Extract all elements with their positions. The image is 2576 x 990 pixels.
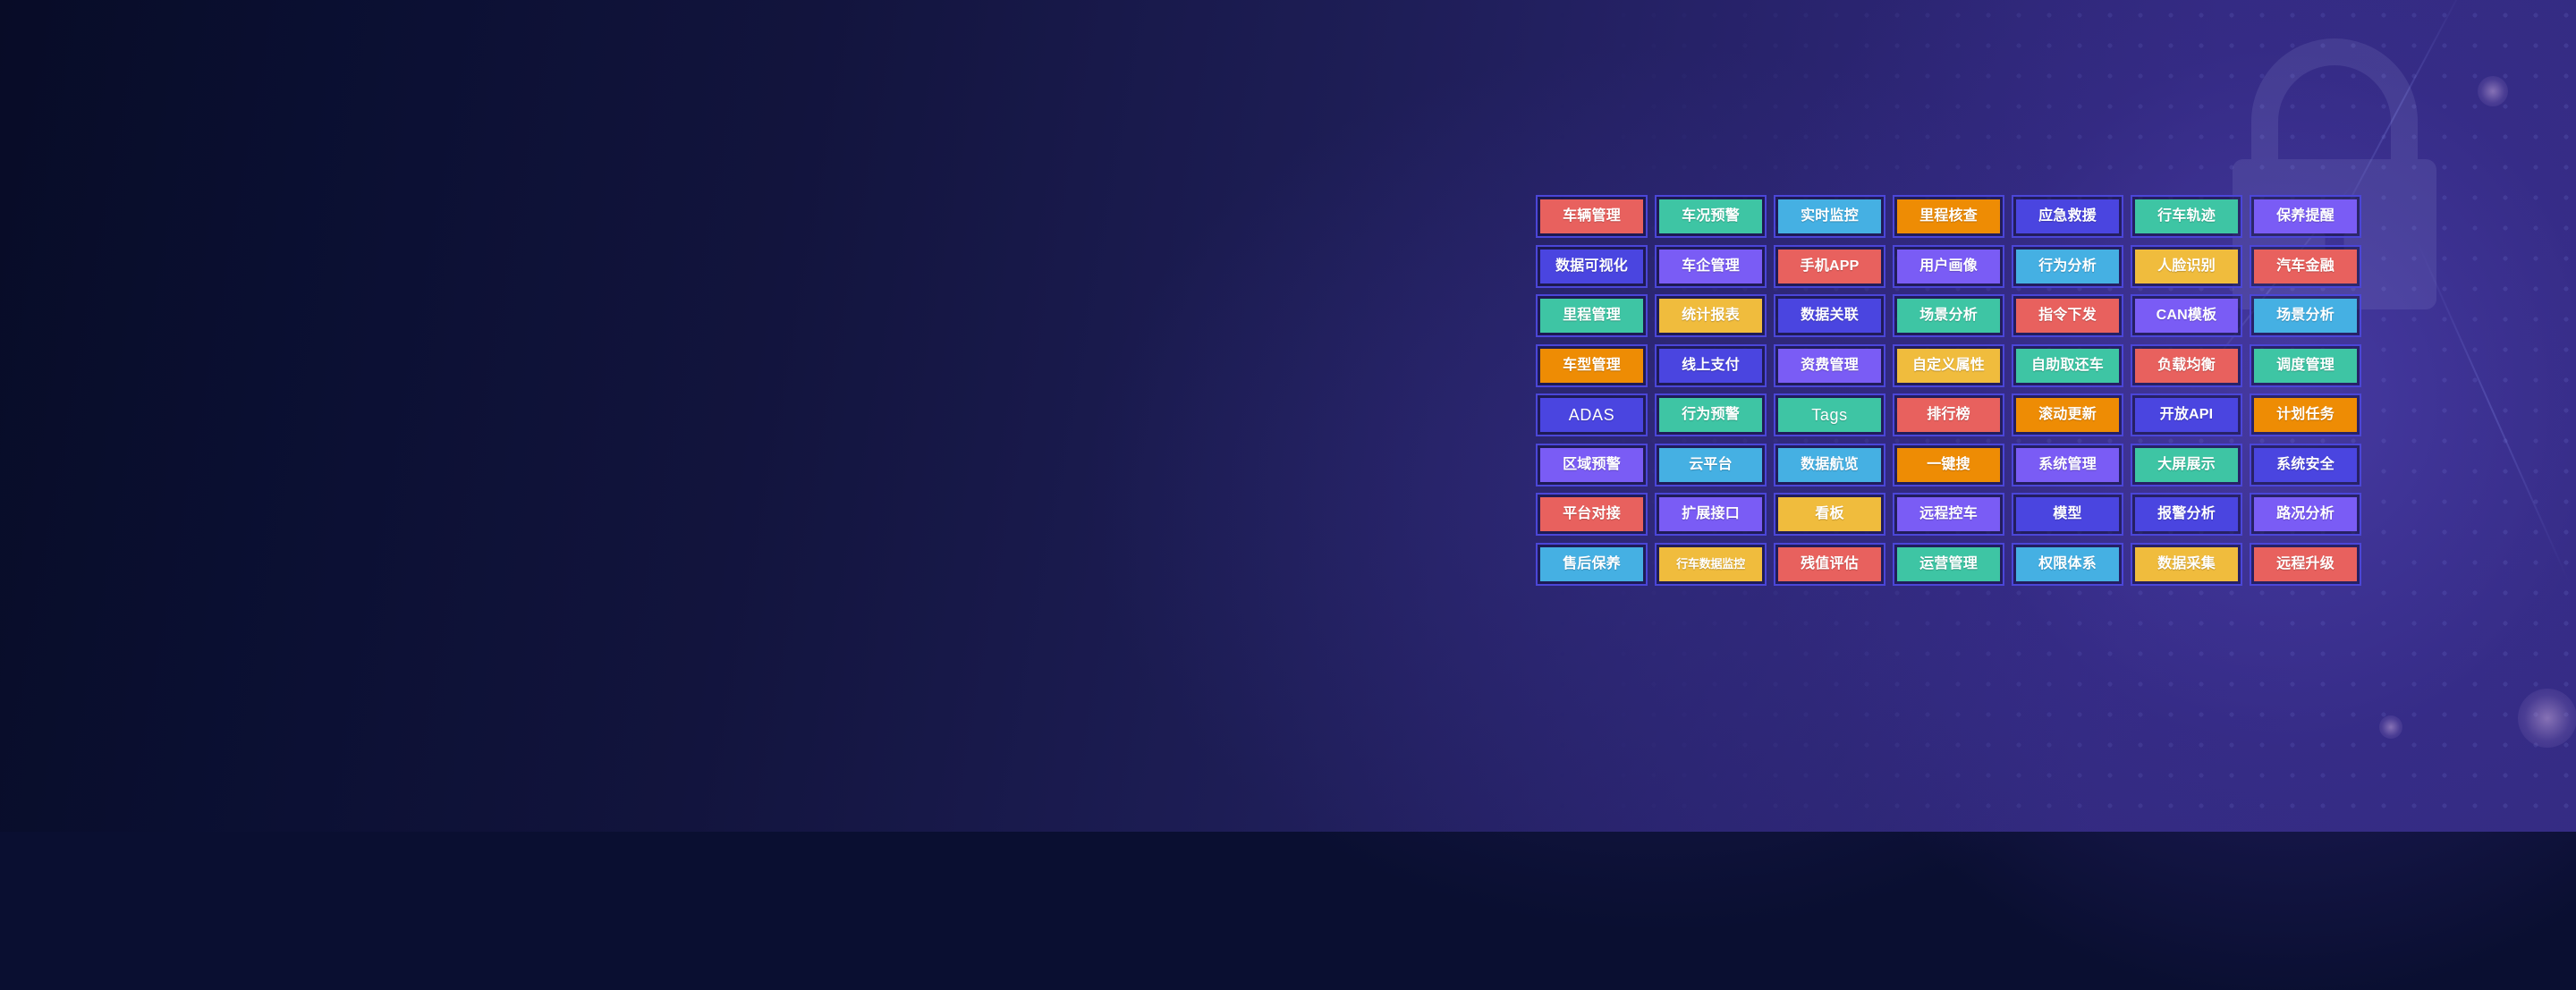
self-service-pickup-tile[interactable]: 自助取还车	[2012, 344, 2123, 387]
mileage-audit-tile[interactable]: 里程核查	[1893, 195, 2004, 238]
tile-fill: 数据采集	[2135, 547, 2238, 581]
tile-fill: 滚动更新	[2016, 398, 2119, 432]
tile-fill: 车型管理	[1540, 349, 1643, 383]
tile-row: 数据可视化车企管理手机APP用户画像行为分析人脸识别汽车金融	[1536, 245, 2368, 288]
geo-fence-alert-tile[interactable]: 区域预警	[1536, 444, 1648, 487]
data-association-tile[interactable]: 数据关联	[1774, 294, 1885, 337]
tile-fill: 扩展接口	[1659, 497, 1762, 531]
tile-label: ADAS	[1569, 407, 1614, 423]
statistics-report-tile[interactable]: 统计报表	[1655, 294, 1767, 337]
data-collection-tile[interactable]: 数据采集	[2131, 543, 2242, 586]
tile-fill: 里程管理	[1540, 299, 1643, 333]
driving-track-tile[interactable]: 行车轨迹	[2131, 195, 2242, 238]
remote-control-tile[interactable]: 远程控车	[1893, 493, 2004, 536]
tile-label: 指令下发	[2038, 309, 2097, 323]
tile-label: CAN模板	[2157, 309, 2217, 323]
tile-label: 数据可视化	[1555, 259, 1628, 274]
tile-fill: 调度管理	[2254, 349, 2357, 383]
tile-label: 计划任务	[2276, 408, 2334, 422]
tile-label: 模型	[2053, 507, 2081, 521]
tile-fill: 大屏展示	[2135, 448, 2238, 482]
tariff-management-tile[interactable]: 资费管理	[1774, 344, 1885, 387]
tile-row: 平台对接扩展接口看板远程控车模型报警分析路况分析	[1536, 493, 2368, 536]
scenario-analysis-tile[interactable]: 场景分析	[1893, 294, 2004, 337]
tile-fill: 平台对接	[1540, 497, 1643, 531]
tile-label: 扩展接口	[1682, 507, 1740, 521]
tile-label: 行车数据监控	[1676, 558, 1745, 570]
tile-fill: 汽车金融	[2254, 250, 2357, 283]
dashboard-tile[interactable]: 看板	[1774, 493, 1885, 536]
extension-interface-tile[interactable]: 扩展接口	[1655, 493, 1767, 536]
tile-label: 里程核查	[1919, 209, 1978, 224]
tile-fill: 线上支付	[1659, 349, 1762, 383]
tile-label: 远程控车	[1919, 507, 1978, 521]
tile-label: 云平台	[1689, 458, 1733, 472]
driving-data-monitor-tile[interactable]: 行车数据监控	[1655, 543, 1767, 586]
tile-fill: 实时监控	[1778, 199, 1881, 233]
tile-label: 应急救援	[2038, 209, 2097, 224]
model-tile[interactable]: 模型	[2012, 493, 2123, 536]
tile-label: 车企管理	[1682, 259, 1740, 274]
tile-fill: ADAS	[1540, 398, 1643, 432]
maintenance-reminder-tile[interactable]: 保养提醒	[2250, 195, 2361, 238]
tile-fill: 场景分析	[2254, 299, 2357, 333]
open-api-tile[interactable]: 开放API	[2131, 393, 2242, 436]
leaderboard-tile[interactable]: 排行榜	[1893, 393, 2004, 436]
tile-fill: 一键搜	[1897, 448, 2000, 482]
permission-system-tile[interactable]: 权限体系	[2012, 543, 2123, 586]
tile-fill: 数据关联	[1778, 299, 1881, 333]
rolling-update-tile[interactable]: 滚动更新	[2012, 393, 2123, 436]
after-sales-service-tile[interactable]: 售后保养	[1536, 543, 1648, 586]
tile-fill: 用户画像	[1897, 250, 2000, 283]
mileage-management-tile[interactable]: 里程管理	[1536, 294, 1648, 337]
tile-fill: 手机APP	[1778, 250, 1881, 283]
tile-label: 运营管理	[1919, 557, 1978, 571]
tile-label: 车辆管理	[1563, 209, 1621, 224]
tile-fill: 行为分析	[2016, 250, 2119, 283]
emergency-rescue-tile[interactable]: 应急救援	[2012, 195, 2123, 238]
tile-label: 滚动更新	[2038, 408, 2097, 422]
tile-label: 行为预警	[1682, 408, 1740, 422]
tile-fill: 保养提醒	[2254, 199, 2357, 233]
tile-fill: 开放API	[2135, 398, 2238, 432]
tile-fill: 行车数据监控	[1659, 547, 1762, 581]
scenario-analysis-tile-2[interactable]: 场景分析	[2250, 294, 2361, 337]
cloud-platform-tile[interactable]: 云平台	[1655, 444, 1767, 487]
tile-label: 手机APP	[1801, 259, 1860, 274]
tile-label: 数据航览	[1801, 458, 1859, 472]
tile-fill: 应急救援	[2016, 199, 2119, 233]
scheduled-task-tile[interactable]: 计划任务	[2250, 393, 2361, 436]
data-browse-tile[interactable]: 数据航览	[1774, 444, 1885, 487]
tile-fill: 路况分析	[2254, 497, 2357, 531]
tile-fill: 区域预警	[1540, 448, 1643, 482]
tile-fill: 行为预警	[1659, 398, 1762, 432]
behavior-alert-tile[interactable]: 行为预警	[1655, 393, 1767, 436]
system-management-tile[interactable]: 系统管理	[2012, 444, 2123, 487]
tile-fill: 残值评估	[1778, 547, 1881, 581]
tile-label: 里程管理	[1563, 309, 1621, 323]
tile-label: 车况预警	[1682, 209, 1740, 224]
dispatch-management-tile[interactable]: 调度管理	[2250, 344, 2361, 387]
tile-fill: 云平台	[1659, 448, 1762, 482]
tile-row: 区域预警云平台数据航览一键搜系统管理大屏展示系统安全	[1536, 444, 2368, 487]
tile-fill: 看板	[1778, 497, 1881, 531]
tile-fill: 排行榜	[1897, 398, 2000, 432]
tile-label: 车型管理	[1563, 359, 1621, 373]
tile-label: 报警分析	[2157, 507, 2216, 521]
tile-row: 售后保养行车数据监控残值评估运营管理权限体系数据采集远程升级	[1536, 543, 2368, 586]
behavior-analysis-tile[interactable]: 行为分析	[2012, 245, 2123, 288]
tile-fill: 运营管理	[1897, 547, 2000, 581]
user-profile-tile[interactable]: 用户画像	[1893, 245, 2004, 288]
tile-fill: 车企管理	[1659, 250, 1762, 283]
tile-fill: 指令下发	[2016, 299, 2119, 333]
tile-label: 远程升级	[2276, 557, 2334, 571]
load-balancing-tile[interactable]: 负载均衡	[2131, 344, 2242, 387]
tile-fill: 车辆管理	[1540, 199, 1643, 233]
tile-fill: 售后保养	[1540, 547, 1643, 581]
residual-value-tile[interactable]: 残值评估	[1774, 543, 1885, 586]
tile-label: 保养提醒	[2276, 209, 2334, 224]
tile-label: 数据采集	[2157, 557, 2216, 571]
tile-label: 负载均衡	[2157, 359, 2216, 373]
tile-label: 行为分析	[2038, 259, 2097, 274]
tile-fill: 远程控车	[1897, 497, 2000, 531]
tile-fill: 权限体系	[2016, 547, 2119, 581]
tile-label: 大屏展示	[2157, 458, 2216, 472]
tile-fill: 计划任务	[2254, 398, 2357, 432]
tile-label: 汽车金融	[2276, 259, 2334, 274]
tile-label: 自助取还车	[2031, 359, 2104, 373]
tile-row: ADAS行为预警Tags排行榜滚动更新开放API计划任务	[1536, 393, 2368, 436]
tile-fill: 人脸识别	[2135, 250, 2238, 283]
tile-label: 售后保养	[1563, 557, 1621, 571]
tile-label: 资费管理	[1801, 359, 1859, 373]
tags-tile[interactable]: Tags	[1774, 393, 1885, 436]
oem-management-tile[interactable]: 车企管理	[1655, 245, 1767, 288]
tile-label: 统计报表	[1682, 309, 1740, 323]
ota-upgrade-tile[interactable]: 远程升级	[2250, 543, 2361, 586]
tile-fill: 行车轨迹	[2135, 199, 2238, 233]
vehicle-management-tile[interactable]: 车辆管理	[1536, 195, 1648, 238]
tile-label: 权限体系	[2038, 557, 2097, 571]
tile-label: 区域预警	[1563, 458, 1621, 472]
tile-fill: 统计报表	[1659, 299, 1762, 333]
adas-tile[interactable]: ADAS	[1536, 393, 1648, 436]
tile-label: 看板	[1815, 507, 1843, 521]
one-click-search-tile[interactable]: 一键搜	[1893, 444, 2004, 487]
tile-label: Tags	[1811, 407, 1847, 423]
tile-label: 人脸识别	[2157, 259, 2216, 274]
tile-label: 场景分析	[1919, 309, 1978, 323]
realtime-monitor-tile[interactable]: 实时监控	[1774, 195, 1885, 238]
tile-fill: 数据航览	[1778, 448, 1881, 482]
tile-row: 车型管理线上支付资费管理自定义属性自助取还车负载均衡调度管理	[1536, 344, 2368, 387]
tile-fill: 负载均衡	[2135, 349, 2238, 383]
alarm-analysis-tile[interactable]: 报警分析	[2131, 493, 2242, 536]
tile-row: 里程管理统计报表数据关联场景分析指令下发CAN模板场景分析	[1536, 294, 2368, 337]
tile-label: 路况分析	[2276, 507, 2334, 521]
tile-fill: 自助取还车	[2016, 349, 2119, 383]
custom-attribute-tile[interactable]: 自定义属性	[1893, 344, 2004, 387]
can-template-tile[interactable]: CAN模板	[2131, 294, 2242, 337]
tile-label: 系统安全	[2276, 458, 2334, 472]
tile-label: 一键搜	[1927, 458, 1970, 472]
tile-fill: 数据可视化	[1540, 250, 1643, 283]
tile-fill: 远程升级	[2254, 547, 2357, 581]
tile-fill: 系统管理	[2016, 448, 2119, 482]
face-recognition-tile[interactable]: 人脸识别	[2131, 245, 2242, 288]
tile-label: 调度管理	[2276, 359, 2334, 373]
tile-fill: 系统安全	[2254, 448, 2357, 482]
tile-label: 自定义属性	[1912, 359, 1985, 373]
tile-label: 用户画像	[1919, 259, 1978, 274]
tile-label: 残值评估	[1801, 557, 1859, 571]
tile-label: 实时监控	[1801, 209, 1859, 224]
tile-fill: 自定义属性	[1897, 349, 2000, 383]
tile-fill: 模型	[2016, 497, 2119, 531]
tile-fill: 车况预警	[1659, 199, 1762, 233]
online-payment-tile[interactable]: 线上支付	[1655, 344, 1767, 387]
system-security-tile[interactable]: 系统安全	[2250, 444, 2361, 487]
operation-management-tile[interactable]: 运营管理	[1893, 543, 2004, 586]
road-condition-analysis-tile[interactable]: 路况分析	[2250, 493, 2361, 536]
tile-label: 排行榜	[1927, 408, 1970, 422]
tile-label: 系统管理	[2038, 458, 2097, 472]
feature-tile-grid: 车辆管理车况预警实时监控里程核查应急救援行车轨迹保养提醒数据可视化车企管理手机A…	[1536, 195, 2368, 586]
tile-label: 开放API	[2160, 408, 2214, 422]
mobile-app-tile[interactable]: 手机APP	[1774, 245, 1885, 288]
platform-integration-tile[interactable]: 平台对接	[1536, 493, 1648, 536]
tile-fill: 场景分析	[1897, 299, 2000, 333]
model-management-tile[interactable]: 车型管理	[1536, 344, 1648, 387]
auto-finance-tile[interactable]: 汽车金融	[2250, 245, 2361, 288]
data-visualization-tile[interactable]: 数据可视化	[1536, 245, 1648, 288]
tile-label: 行车轨迹	[2157, 209, 2216, 224]
tile-fill: 报警分析	[2135, 497, 2238, 531]
tile-label: 线上支付	[1682, 359, 1740, 373]
tile-label: 平台对接	[1563, 507, 1621, 521]
tile-fill: 资费管理	[1778, 349, 1881, 383]
tile-fill: 里程核查	[1897, 199, 2000, 233]
tile-label: 场景分析	[2276, 309, 2334, 323]
vehicle-condition-alert-tile[interactable]: 车况预警	[1655, 195, 1767, 238]
large-screen-display-tile[interactable]: 大屏展示	[2131, 444, 2242, 487]
tile-row: 车辆管理车况预警实时监控里程核查应急救援行车轨迹保养提醒	[1536, 195, 2368, 238]
tile-fill: Tags	[1778, 398, 1881, 432]
tile-label: 数据关联	[1801, 309, 1859, 323]
command-dispatch-tile[interactable]: 指令下发	[2012, 294, 2123, 337]
tile-fill: CAN模板	[2135, 299, 2238, 333]
